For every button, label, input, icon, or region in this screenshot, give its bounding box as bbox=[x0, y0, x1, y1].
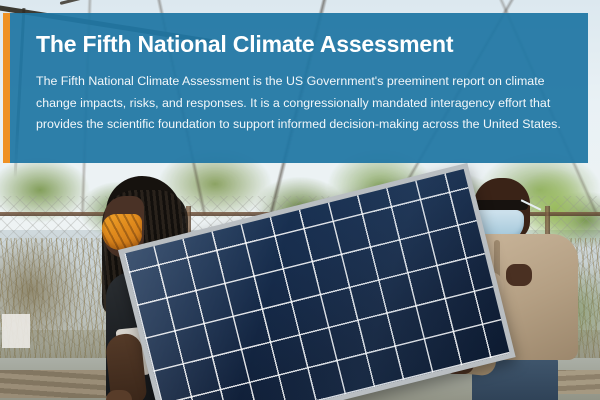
hand bbox=[106, 390, 132, 400]
intro-panel: The Fifth National Climate Assessment Th… bbox=[10, 13, 588, 163]
page-title: The Fifth National Climate Assessment bbox=[36, 31, 562, 57]
accent-bar bbox=[3, 13, 10, 163]
hero-banner: The Fifth National Climate Assessment Th… bbox=[0, 0, 600, 400]
sunglasses bbox=[472, 200, 528, 210]
hand bbox=[506, 264, 532, 286]
intro-paragraph: The Fifth National Climate Assessment is… bbox=[36, 71, 562, 136]
white-object bbox=[2, 314, 30, 348]
